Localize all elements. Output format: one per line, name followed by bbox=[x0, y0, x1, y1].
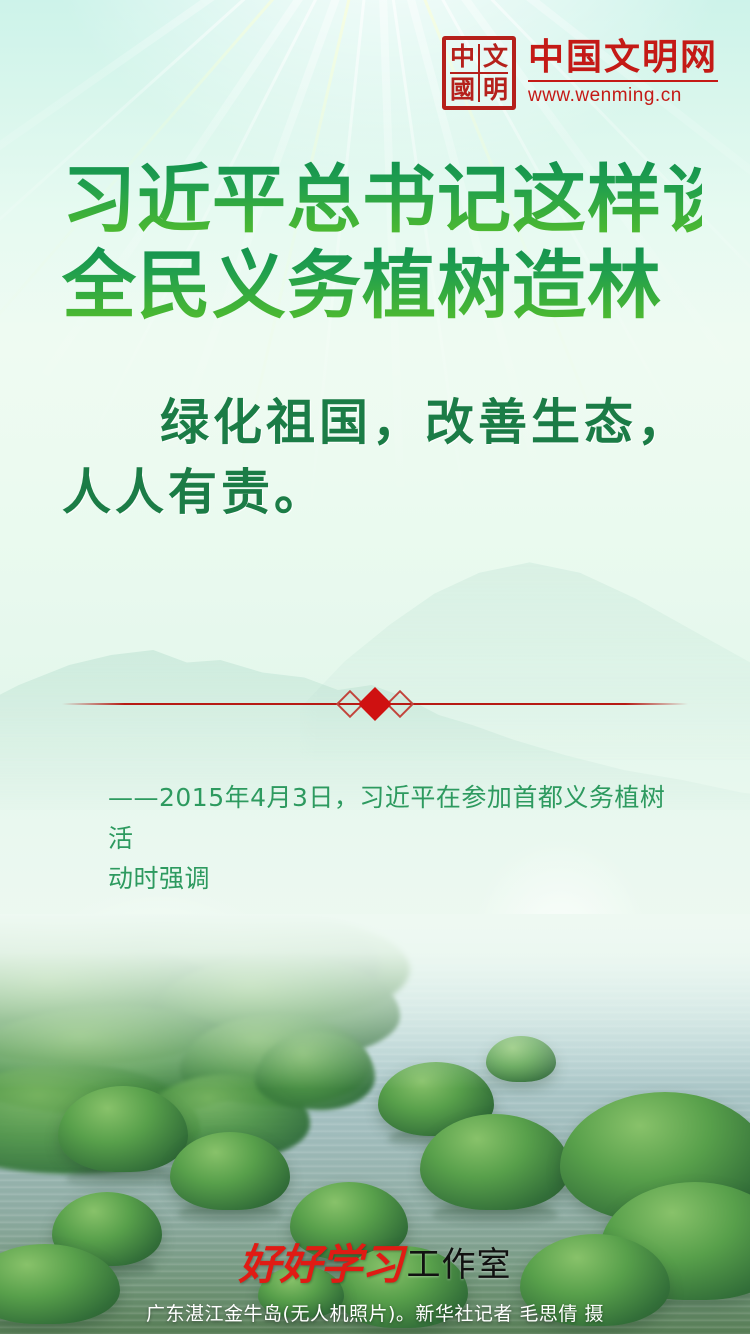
brand-name: 中国文明网 bbox=[528, 39, 718, 77]
seal-char-1: 中 bbox=[446, 40, 479, 73]
quote-line-2: 人人有责。 bbox=[62, 458, 712, 528]
quote-block: 绿化祖国，改善生态， 人人有责。 bbox=[62, 388, 712, 527]
seal-char-2: 文 bbox=[479, 40, 512, 73]
seal-char-3: 國 bbox=[446, 73, 479, 106]
ornament-divider bbox=[62, 682, 688, 726]
headline-line-1: 习近平总书记这样谈 bbox=[62, 158, 702, 244]
brand-divider-rule bbox=[528, 80, 718, 82]
studio-logo[interactable]: 好好学习 工作室 bbox=[0, 1231, 750, 1292]
quote-line-1: 绿化祖国，改善生态， bbox=[62, 388, 712, 458]
seal-char-4: 明 bbox=[479, 73, 512, 106]
attribution-line-1: ——2015年4月3日，习近平在参加首都义务植树活 bbox=[108, 778, 668, 859]
headline-line-2: 全民义务植树造林 bbox=[62, 244, 702, 330]
page-title: 习近平总书记这样谈 全民义务植树造林 bbox=[62, 158, 702, 330]
studio-name-red: 好好学习 bbox=[238, 1231, 402, 1292]
brand-url: www.wenming.cn bbox=[528, 85, 718, 107]
attribution-line-2: 动时强调 bbox=[108, 859, 668, 900]
quote-attribution: ——2015年4月3日，习近平在参加首都义务植树活 动时强调 bbox=[108, 778, 668, 900]
brand-text-block: 中国文明网 www.wenming.cn bbox=[528, 39, 718, 108]
photo-top-fade bbox=[0, 914, 750, 1089]
photo-caption: 广东湛江金牛岛(无人机照片)。新华社记者 毛思倩 摄 bbox=[0, 1299, 750, 1326]
poster-root: 中 文 國 明 中国文明网 www.wenming.cn 习近平总书记这样谈 全… bbox=[0, 0, 750, 1334]
site-brand-logo[interactable]: 中 文 國 明 中国文明网 www.wenming.cn bbox=[442, 36, 718, 110]
studio-name-black: 工作室 bbox=[407, 1237, 512, 1286]
chinese-seal-icon: 中 文 國 明 bbox=[442, 36, 516, 110]
